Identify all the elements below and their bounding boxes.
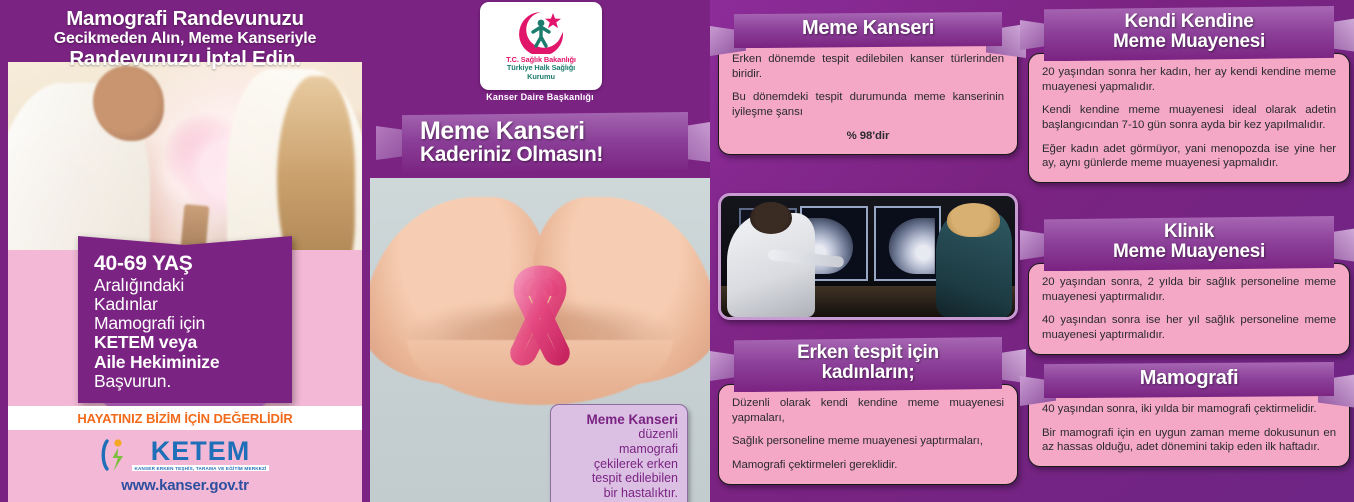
photo-man-head-shape: [93, 66, 164, 141]
banner-title-line2: Kaderiniz Olmasın!: [420, 144, 688, 166]
card-mamografi: Mamografi 40 yaşından sonra, iki yılda b…: [1028, 362, 1350, 467]
slogan-bar: HAYATINIZ BİZİM İÇİN DEĞERLİDİR: [8, 406, 362, 430]
center-panel: T.C. Sağlık Bakanlığı Türkiye Halk Sağlı…: [370, 0, 710, 502]
right-panel-column-left: Meme Kanseri Erken dönemde tespit edileb…: [718, 0, 1018, 502]
card-header-erken-tespit: Erken tespit için kadınların;: [718, 337, 1018, 392]
left-headline-line3: Randevunuzu İptal Edin.: [0, 48, 370, 71]
center-note-line4: tespit edilebilen: [560, 471, 678, 486]
callout-line4: Mamografi için: [94, 314, 280, 333]
card-paragraph: Bir mamografi için en uygun zaman meme d…: [1042, 426, 1336, 455]
card-paragraph: 40 yaşından sonra ise her yıl sağlık per…: [1042, 313, 1336, 342]
right-panel-column-right: Kendi Kendine Meme Muayenesi 20 yaşından…: [1028, 0, 1350, 502]
header-plate: Mamografi: [1044, 362, 1334, 398]
card-paragraph: Erken dönemde tespit edilebilen kanser t…: [732, 52, 1004, 81]
right-panel: Meme Kanseri Erken dönemde tespit edileb…: [710, 0, 1354, 502]
header-plate: Meme Kanseri: [734, 12, 1002, 48]
card-paragraph: Mamografi çektirmeleri gereklidir.: [732, 458, 1004, 473]
card-highlight-percentage: % 98'dir: [732, 129, 1004, 144]
center-info-note: Meme Kanseri düzenli mamografi çekilerek…: [550, 404, 688, 502]
left-panel: Mamografi Randevunuzu Gecikmeden Alın, M…: [0, 0, 370, 502]
ketem-subtitle-text: KANSER ERKEN TEŞHİS, TARAMA VE EĞİTİM ME…: [132, 465, 268, 471]
callout-line7: Başvurun.: [94, 372, 280, 391]
card-meme-kanseri: Meme Kanseri Erken dönemde tespit edileb…: [718, 12, 1018, 155]
card-paragraph: Eğer kadın adet görmüyor, yani menopozda…: [1042, 142, 1336, 171]
ketem-word-text: KETEM: [151, 439, 251, 465]
left-headline-line2: Gecikmeden Alın, Meme Kanseriyle: [0, 30, 370, 48]
ministry-of-health-logo: T.C. Sağlık Bakanlığı Türkiye Halk Sağlı…: [480, 2, 602, 90]
card-paragraph: 20 yaşından sonra her kadın, her ay kend…: [1042, 65, 1336, 94]
website-url[interactable]: www.kanser.gov.tr: [121, 477, 248, 494]
ministry-logo-line3: Kurumu: [527, 73, 555, 82]
callout-line5: KETEM veya: [94, 333, 280, 352]
card-title-line2: Meme Muayenesi: [1054, 242, 1324, 262]
left-headline: Mamografi Randevunuzu Gecikmeden Alın, M…: [0, 8, 370, 70]
card-title-line2: kadınların;: [744, 363, 992, 383]
callout-line3: Kadınlar: [94, 295, 280, 314]
center-note-line1: düzenli: [560, 427, 678, 442]
banner-plate: Meme Kanseri Kaderiniz Olmasın!: [402, 112, 688, 174]
header-plate: Kendi Kendine Meme Muayenesi: [1044, 6, 1334, 61]
header-plate: Klinik Meme Muayenesi: [1044, 216, 1334, 271]
card-body-mamografi: 40 yaşından sonra, iki yılda bir mamogra…: [1028, 390, 1350, 467]
callout-line2: Aralığındaki: [94, 276, 280, 295]
ketem-logo-zone: KETEM KANSER ERKEN TEŞHİS, TARAMA VE EĞİ…: [8, 430, 362, 502]
pink-awareness-ribbon-icon: [497, 256, 583, 368]
card-title-line2: Meme Muayenesi: [1054, 32, 1324, 52]
photo-mammogram-image: [889, 218, 935, 275]
ministry-emblem-icon: [511, 10, 571, 54]
card-paragraph: Kendi kendine meme muayenesi ideal olara…: [1042, 103, 1336, 132]
callout-line6: Aile Hekiminize: [94, 353, 280, 372]
card-paragraph: 20 yaşından sonra, 2 yılda bir sağlık pe…: [1042, 275, 1336, 304]
center-note-line5: bir hastalıktır.: [560, 486, 678, 501]
banner-title-line1: Meme Kanseri: [420, 119, 688, 144]
brochure-page: Mamografi Randevunuzu Gecikmeden Alın, M…: [0, 0, 1354, 502]
card-header-mamografi: Mamografi: [1028, 362, 1350, 398]
card-body-erken-tespit: Düzenli olarak kendi kendine meme muayen…: [718, 384, 1018, 484]
left-headline-line1: Mamografi Randevunuzu: [0, 8, 370, 30]
left-panel-edge-strip: [362, 0, 370, 502]
center-note-header: Meme Kanseri: [560, 412, 678, 427]
ketem-figure-icon: [101, 438, 129, 472]
header-plate: Erken tespit için kadınların;: [734, 337, 1002, 392]
slogan-text: HAYATINIZ BİZİM İÇİN DEĞERLİDİR: [77, 411, 292, 426]
card-header-kendi-kendine: Kendi Kendine Meme Muayenesi: [1028, 6, 1350, 61]
card-body-meme-kanseri: Erken dönemde tespit edilebilen kanser t…: [718, 40, 1018, 155]
center-note-line2: mamografi: [560, 442, 678, 457]
card-paragraph: Sağlık personeline meme muayenesi yaptır…: [732, 434, 1004, 449]
age-range-callout-body: 40-69 YAŞ Aralığındaki Kadınlar Mamograf…: [78, 236, 292, 403]
card-body-klinik-muayene: 20 yaşından sonra, 2 yılda bir sağlık pe…: [1028, 263, 1350, 354]
card-title-line1: Erken tespit için: [744, 343, 992, 363]
card-title-line1: Klinik: [1054, 222, 1324, 242]
card-klinik-muayene: Klinik Meme Muayenesi 20 yaşından sonra,…: [1028, 216, 1350, 355]
card-kendi-kendine: Kendi Kendine Meme Muayenesi 20 yaşından…: [1028, 6, 1350, 183]
department-caption: Kanser Daire Başkanlığı: [370, 92, 710, 102]
photo-doctor-head-shape: [750, 202, 791, 233]
card-paragraph: 40 yaşından sonra, iki yılda bir mamogra…: [1042, 402, 1336, 417]
card-header-meme-kanseri: Meme Kanseri: [718, 12, 1018, 48]
mammogram-consultation-photo: [718, 193, 1018, 320]
card-title-line1: Meme Kanseri: [744, 18, 992, 39]
photo-mammogram-screen-left: [874, 206, 942, 281]
card-body-kendi-kendine: 20 yaşından sonra her kadın, her ay kend…: [1028, 53, 1350, 183]
card-header-klinik-muayene: Klinik Meme Muayenesi: [1028, 216, 1350, 271]
card-erken-tespit: Erken tespit için kadınların; Düzenli ol…: [718, 337, 1018, 485]
card-title-line1: Kendi Kendine: [1054, 12, 1324, 32]
center-note-line3: çekilerek erken: [560, 457, 678, 472]
photo-patient-head-shape: [947, 203, 1000, 237]
ketem-wordmark: KETEM KANSER ERKEN TEŞHİS, TARAMA VE EĞİ…: [132, 439, 268, 472]
callout-line1: 40-69 YAŞ: [94, 253, 280, 276]
ketem-logo: KETEM KANSER ERKEN TEŞHİS, TARAMA VE EĞİ…: [101, 438, 268, 472]
card-title-line1: Mamografi: [1054, 368, 1324, 389]
card-paragraph: Bu dönemdeki tespit durumunda meme kanse…: [732, 90, 1004, 119]
card-paragraph: Düzenli olarak kendi kendine meme muayen…: [732, 396, 1004, 425]
center-banner: Meme Kanseri Kaderiniz Olmasın!: [394, 112, 694, 180]
